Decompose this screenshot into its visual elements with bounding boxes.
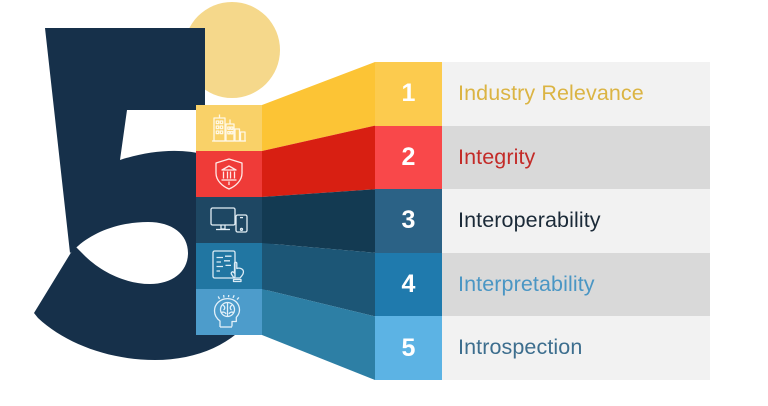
brain-head-icon [210,295,248,329]
number-cell-3: 3 [375,189,442,253]
label-column: Industry Relevance Integrity Interoperab… [442,62,710,380]
number-label-4: 4 [402,272,416,297]
number-label-5: 5 [402,336,416,361]
ribbon-front-3 [262,189,375,253]
label-text-3: Interoperability [458,210,601,232]
devices-icon [209,205,249,235]
label-text-4: Interpretability [458,274,595,296]
city-buildings-icon [210,113,248,143]
shield-bank-icon [213,157,245,191]
number-column: 1 2 3 4 5 [375,62,442,380]
infographic-canvas: 1 2 3 4 5 Industry Relevance Integrity I… [0,0,768,406]
number-label-1: 1 [402,81,416,106]
label-cell-4: Interpretability [442,253,710,317]
label-cell-5: Introspection [442,316,710,380]
number-label-2: 2 [402,145,416,170]
label-cell-2: Integrity [442,126,710,190]
icon-cell-3 [196,197,262,243]
number-label-3: 3 [402,208,416,233]
label-text-5: Introspection [458,337,582,359]
number-cell-4: 4 [375,253,442,317]
label-cell-1: Industry Relevance [442,62,710,126]
icon-cell-4 [196,243,262,289]
tablet-touch-icon [210,249,248,283]
number-cell-1: 1 [375,62,442,126]
number-cell-2: 2 [375,126,442,190]
icon-cell-5 [196,289,262,335]
label-cell-3: Interoperability [442,189,710,253]
label-text-1: Industry Relevance [458,83,644,105]
icon-column [196,105,262,335]
label-text-2: Integrity [458,147,535,169]
icon-cell-2 [196,151,262,197]
icon-cell-1 [196,105,262,151]
number-cell-5: 5 [375,316,442,380]
